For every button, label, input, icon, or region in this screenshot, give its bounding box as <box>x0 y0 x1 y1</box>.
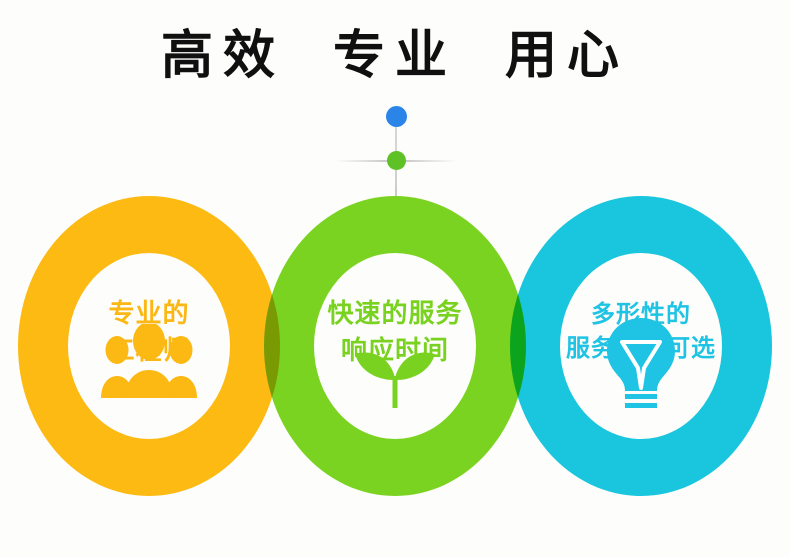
poster-canvas: 高效专业用心 专业的 工程师 <box>0 0 790 557</box>
ring-flexible-service-options[interactable] <box>510 196 772 496</box>
venn-rings <box>0 196 790 496</box>
ring-professional-engineers[interactable] <box>18 196 280 496</box>
ring-fast-service-response[interactable] <box>264 196 526 496</box>
headline-word-3: 用心 <box>505 28 629 85</box>
horizontal-line <box>336 160 456 162</box>
green-dot-icon <box>387 151 406 170</box>
headline-word-1: 高效 <box>161 28 285 85</box>
blue-dot-icon <box>386 106 407 127</box>
headline-word-2: 专业 <box>333 28 457 85</box>
page-title: 高效专业用心 <box>0 28 790 85</box>
